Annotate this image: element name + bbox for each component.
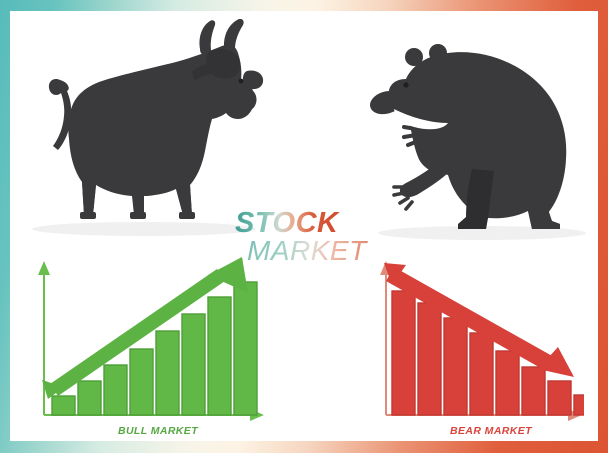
bull-bars [52, 282, 257, 415]
bull-muzzle [232, 86, 257, 112]
bull-horn-right [224, 19, 244, 55]
bear-market-caption: BEAR MARKET [372, 425, 584, 437]
bear-bar-6 [522, 367, 545, 415]
stock-market-poster: STOCK MARKET [0, 0, 608, 453]
bull-bar-1 [52, 396, 75, 415]
bull-market-chart [26, 255, 266, 433]
bear-ear-right [429, 44, 447, 62]
bull-front-leg [176, 185, 192, 215]
bull-bar-2 [78, 381, 101, 415]
bear-bar-4 [470, 333, 493, 415]
bull-eye [239, 79, 244, 84]
bear-eye [403, 82, 408, 87]
bear-market-chart [372, 255, 584, 433]
bear-bar-5 [496, 351, 519, 415]
bear-bar-8 [574, 395, 584, 415]
bear-bar-2 [418, 303, 441, 415]
bear-silhouette [354, 21, 590, 243]
bull-bar-7 [208, 297, 231, 415]
bull-bar-4 [130, 349, 153, 415]
bull-y-axis-arrowhead [38, 261, 50, 275]
bull-bar-6 [182, 314, 205, 415]
bull-hoof-2 [130, 212, 146, 219]
bull-tail [49, 79, 71, 150]
bull-silhouette [24, 19, 282, 239]
bull-market-caption: BULL MARKET [26, 425, 266, 437]
bear-bar-1 [392, 291, 415, 415]
bull-bar-5 [156, 331, 179, 415]
bear-lower-arm [400, 167, 450, 197]
poster-card: STOCK MARKET [10, 11, 598, 441]
bull-bar-3 [104, 365, 127, 415]
bear-bar-7 [548, 381, 571, 415]
bull-hoof-1 [80, 212, 96, 219]
bull-bar-8 [234, 282, 257, 415]
bull-ground-shadow [32, 222, 256, 236]
bear-bar-3 [444, 318, 467, 415]
bull-hoof-3 [179, 212, 195, 219]
bear-ear-left [405, 48, 423, 66]
bull-hind-leg [82, 182, 96, 215]
